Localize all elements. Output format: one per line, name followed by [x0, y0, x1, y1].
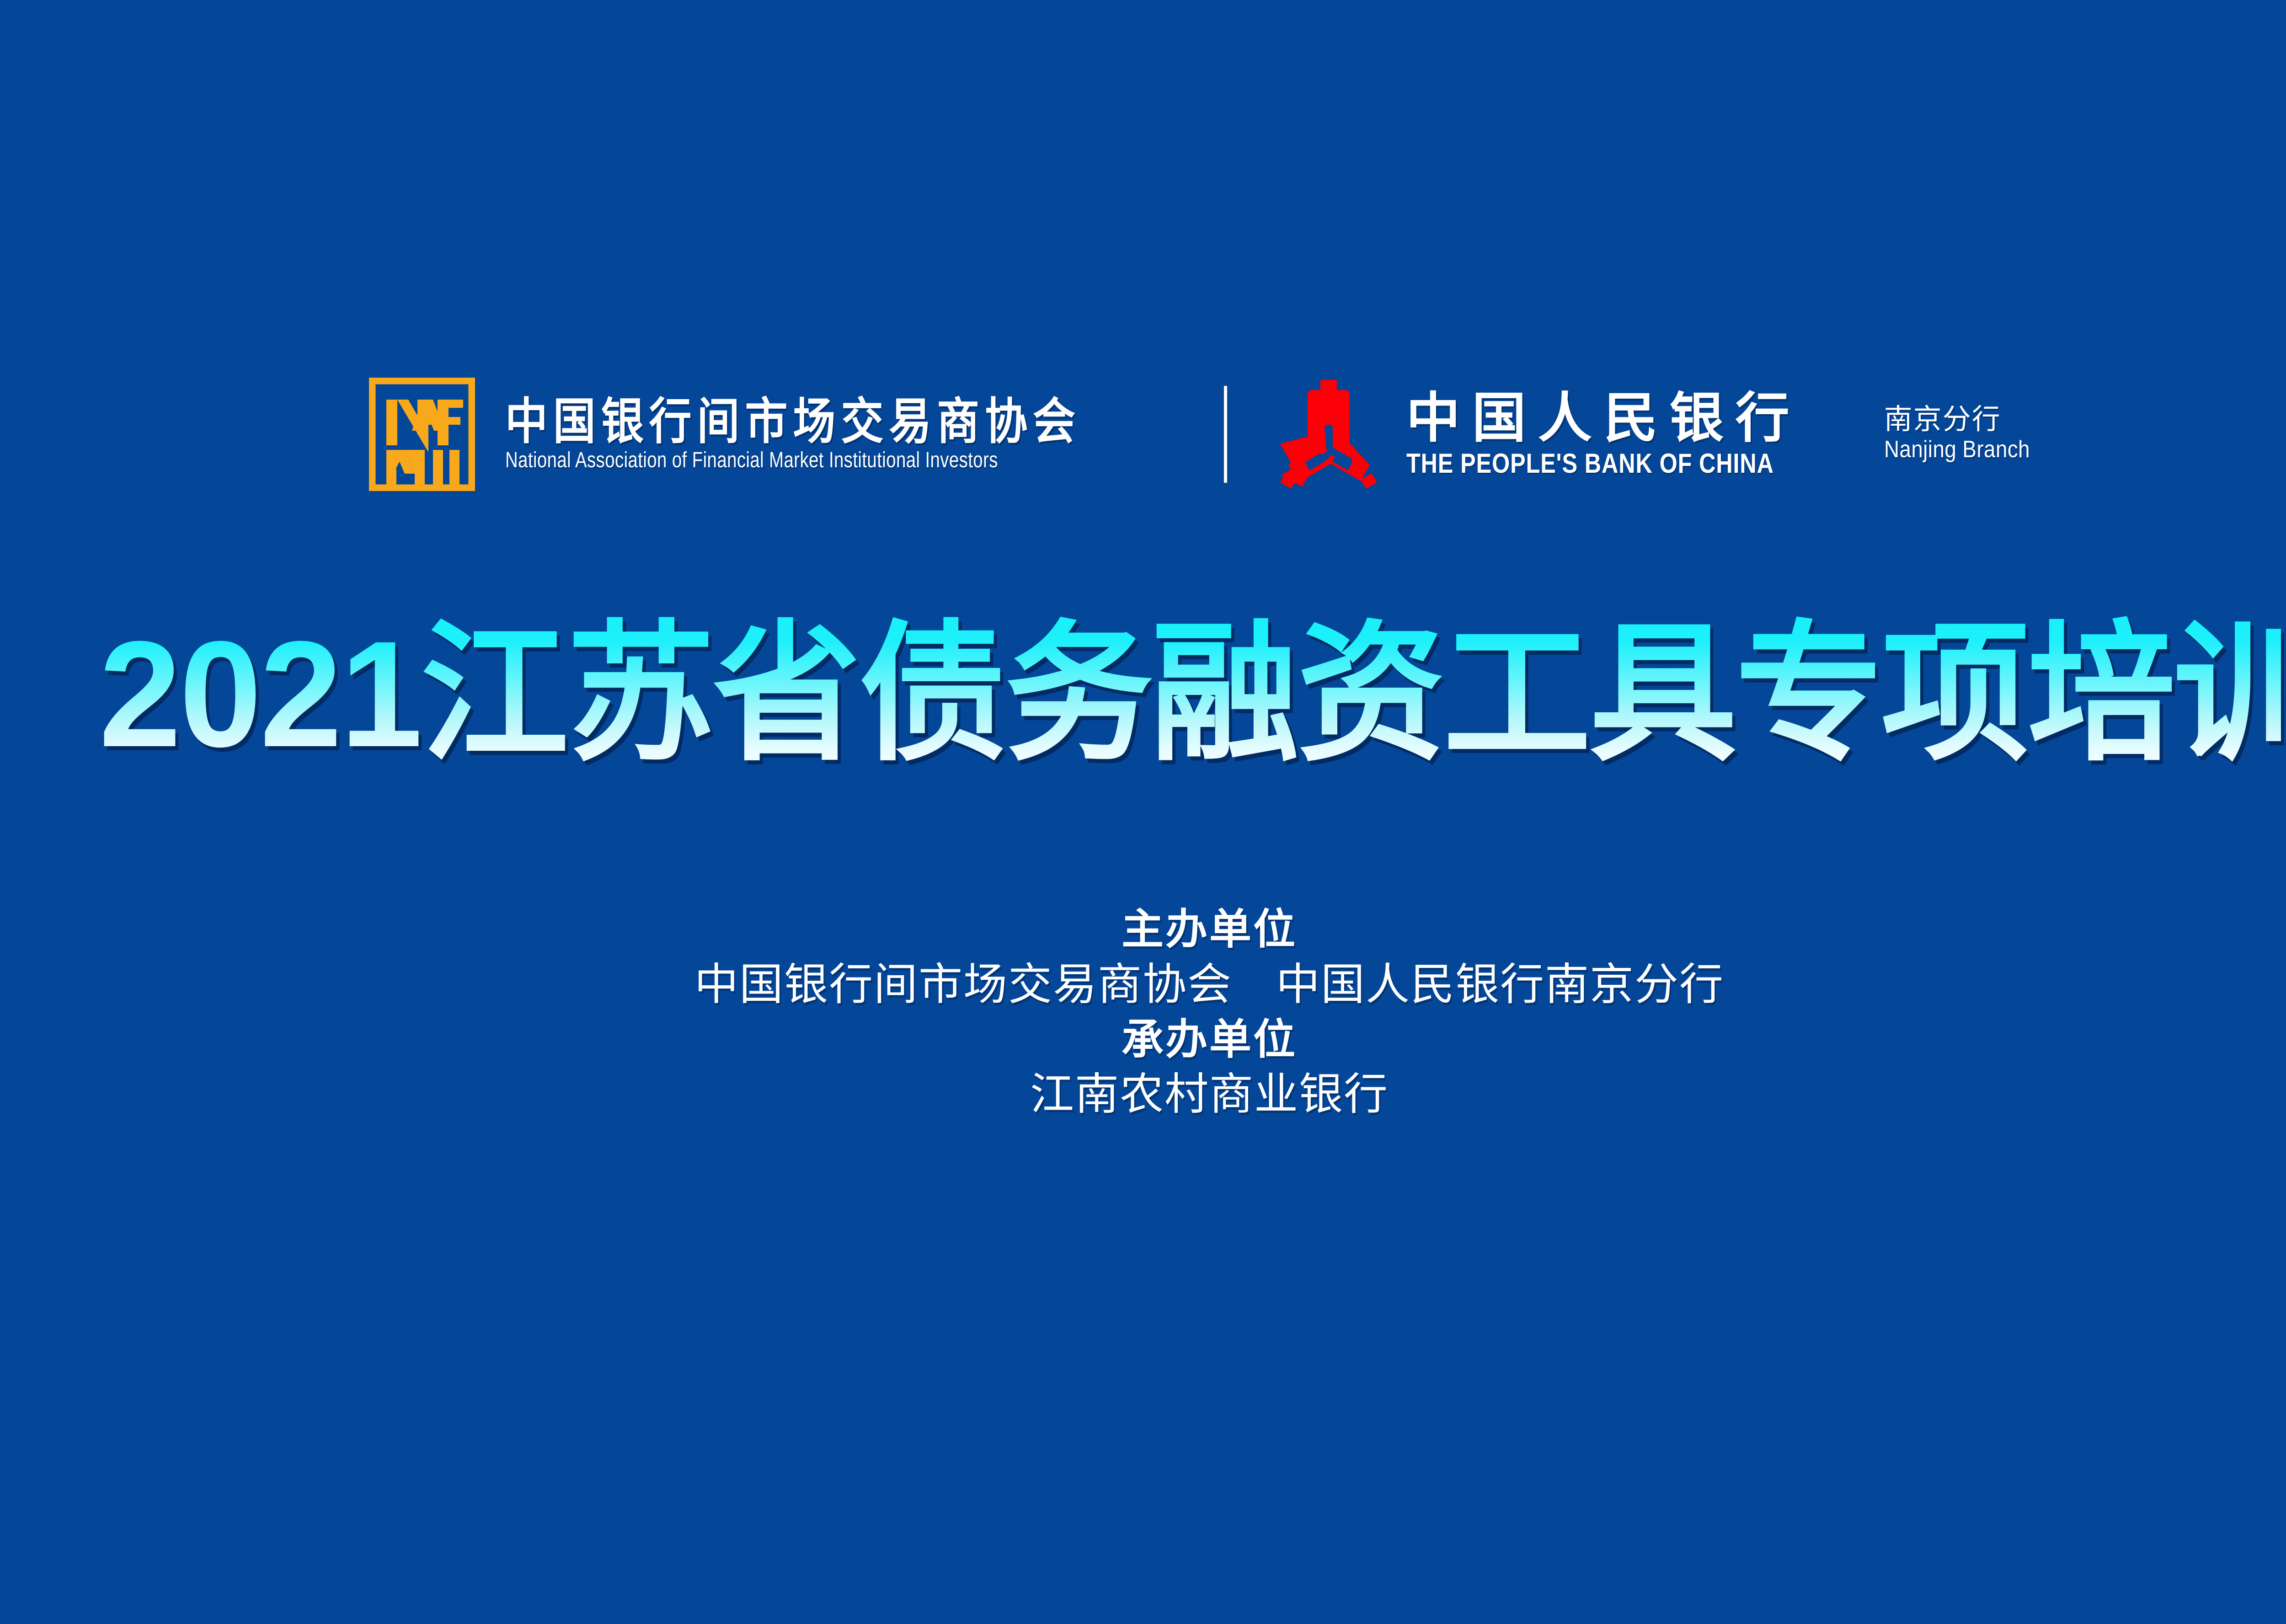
pboc-branch-block: 南京分行 Nanjing Branch [1884, 403, 2050, 465]
credits-block: 主办单位 中国银行间市场交易商协会中国人民银行南京分行 承办单位 江南农村商业银… [0, 903, 2286, 1123]
host-line: 江南农村商业银行 [0, 1067, 2286, 1123]
nafmii-name-cn: 中国银行间市场交易商协会 [505, 396, 1081, 447]
logo-divider [1224, 386, 1227, 483]
organizer-1: 中国银行间市场交易商协会 [694, 960, 1232, 1009]
logo-bar: 中国银行间市场交易商协会 National Association of Fin… [0, 366, 2286, 503]
nafmii-mark-icon [369, 378, 475, 491]
pboc-emblem-icon [1273, 375, 1384, 493]
pboc-wordmark: 中国人民银行 THE PEOPLE'S BANK OF CHINA [1406, 390, 1844, 479]
organizer-2: 中国人民银行南京分行 [1276, 960, 1724, 1009]
host-heading: 承办单位 [0, 1013, 2286, 1067]
nafmii-logo: 中国银行间市场交易商协会 National Association of Fin… [369, 378, 1175, 491]
poster-title: 2021江苏省债务融资工具专项培训 [24, 613, 2286, 775]
pboc-branch-cn: 南京分行 [1884, 403, 2050, 436]
pboc-name-en: THE PEOPLE'S BANK OF CHINA [1406, 448, 1774, 479]
pboc-logo: 中国人民银行 THE PEOPLE'S BANK OF CHINA 南京分行 N… [1273, 375, 2050, 493]
nafmii-name-en: National Association of Financial Market… [505, 449, 1041, 473]
organizer-line: 中国银行间市场交易商协会中国人民银行南京分行 [0, 957, 2286, 1013]
nafmii-wordmark: 中国银行间市场交易商协会 National Association of Fin… [505, 396, 1175, 472]
organizer-heading: 主办单位 [0, 903, 2286, 957]
pboc-name-cn: 中国人民银行 [1406, 390, 1844, 446]
poster-canvas: 中国银行间市场交易商协会 National Association of Fin… [0, 0, 2286, 1624]
pboc-branch-en: Nanjing Branch [1884, 436, 2030, 464]
